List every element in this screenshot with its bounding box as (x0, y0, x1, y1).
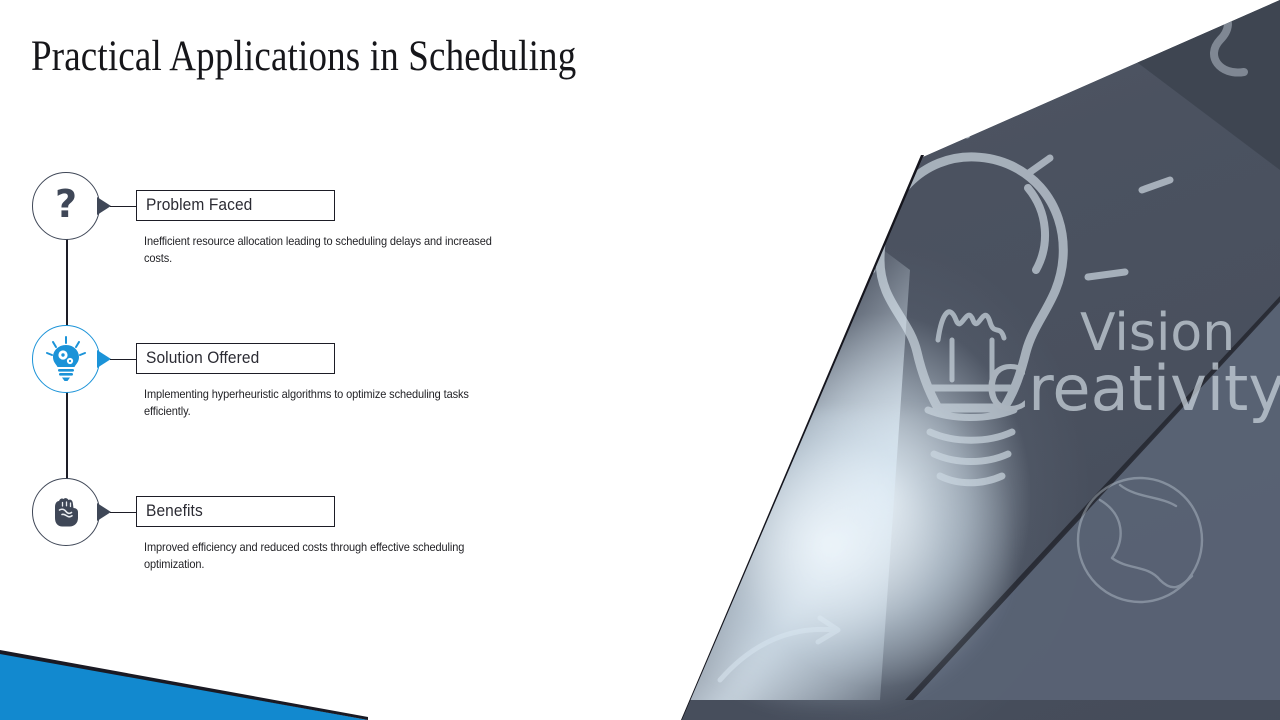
chalk-bulb-highlight (1028, 188, 1045, 270)
step-description-2: Implementing hyperheuristic algorithms t… (144, 387, 507, 420)
chalkboard-lightbulb-photo: vation (640, 0, 1280, 720)
step-label-box-2[interactable]: Solution Offered (136, 343, 335, 374)
step-pointer-1 (97, 197, 111, 215)
chalk-bulb-rays (838, 105, 1170, 277)
step-description-1: Inefficient resource allocation leading … (144, 234, 507, 267)
step-icon-badge-2 (32, 325, 100, 393)
step-label-1: Problem Faced (146, 196, 252, 215)
step-label-3: Benefits (146, 502, 203, 521)
connector-line-2 (66, 389, 68, 481)
question-mark-icon: ? (49, 186, 83, 226)
steps-timeline: ? Problem Faced Inefficient resource all… (0, 0, 700, 720)
connector-line-1 (66, 236, 68, 328)
chalk-word-creativity: Creativity (985, 352, 1280, 425)
step-leader-line-2 (110, 359, 137, 360)
lightbulb-gear-icon (44, 335, 88, 383)
svg-text:?: ? (55, 186, 77, 226)
step-label-2: Solution Offered (146, 349, 259, 368)
step-pointer-3 (97, 503, 111, 521)
raised-fist-icon (46, 493, 86, 531)
chalk-word-innovation: vation (898, 0, 1141, 64)
step-label-box-3[interactable]: Benefits (136, 496, 335, 527)
chalk-bulb-filament (938, 312, 1004, 340)
step-label-box-1[interactable]: Problem Faced (136, 190, 335, 221)
step-description-3: Improved efficiency and reduced costs th… (144, 540, 507, 573)
photo-bulb-glow (680, 410, 1010, 710)
step-pointer-2 (97, 350, 111, 368)
photo-base-gradient: vation (640, 0, 1280, 720)
chalk-squiggle-sketch (1185, 7, 1244, 73)
slide-canvas: Practical Applications in Scheduling ? P… (0, 0, 1280, 720)
step-icon-badge-3 (32, 478, 100, 546)
step-leader-line-3 (110, 512, 137, 513)
chalk-globe-sketch (1078, 478, 1202, 602)
step-leader-line-1 (110, 206, 137, 207)
step-icon-badge-1: ? (32, 172, 100, 240)
